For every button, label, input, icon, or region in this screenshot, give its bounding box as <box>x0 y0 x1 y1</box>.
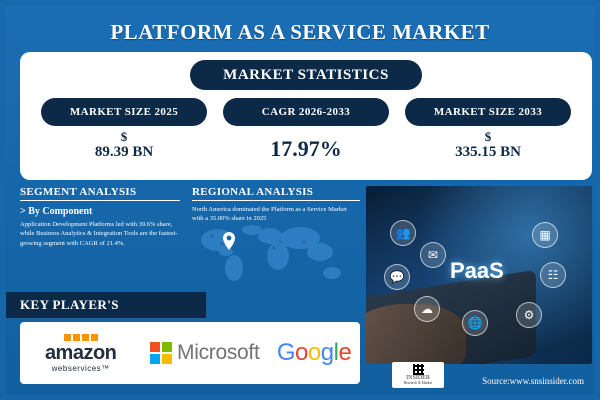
infographic-inner: PLATFORM AS A SERVICE MARKET MARKET STAT… <box>6 6 594 394</box>
segment-analysis-section: SEGMENT ANALYSIS > By Component Applicat… <box>20 186 180 248</box>
node-gear-icon: ⚙ <box>516 302 542 328</box>
segment-analysis-subtitle: > By Component <box>20 206 180 217</box>
stats-label-row: MARKET SIZE 2025 CAGR 2026-2033 MARKET S… <box>20 98 592 126</box>
stat-value-cagr: 17.97% <box>223 130 389 168</box>
logo-amazon-web-services: amazon webservices™ <box>29 334 133 373</box>
stats-value-row: $ 89.39 BN 17.97% $ 335.15 BN <box>20 130 592 168</box>
logo-microsoft: Microsoft <box>150 341 259 365</box>
node-message-icon: 💬 <box>384 264 410 290</box>
logo-google: Google <box>277 339 351 367</box>
aws-wordmark: amazon <box>29 343 133 363</box>
stat-number-2025: 89.39 BN <box>41 144 207 160</box>
regional-analysis-title: REGIONAL ANALYSIS <box>192 186 360 201</box>
market-statistics-panel: MARKET STATISTICS MARKET SIZE 2025 CAGR … <box>20 52 592 180</box>
stat-number-2033: 335.15 BN <box>405 144 571 160</box>
node-cloud-icon: ☁ <box>414 296 440 322</box>
world-map-svg <box>192 218 360 290</box>
google-letter-1: G <box>277 339 295 366</box>
segment-analysis-title: SEGMENT ANALYSIS <box>20 186 180 201</box>
google-letter-2: o <box>295 339 308 366</box>
page-title: PLATFORM AS A SERVICE MARKET <box>6 20 594 45</box>
currency-symbol-2033: $ <box>405 130 571 144</box>
qr-code-icon <box>413 364 424 375</box>
key-players-title: KEY PLAYER'S <box>6 292 206 318</box>
stat-value-market-size-2025: $ 89.39 BN <box>41 130 207 168</box>
node-grid-icon: ☷ <box>540 262 566 288</box>
stat-label-cagr: CAGR 2026-2033 <box>223 98 389 126</box>
source-text: Source:www.snsinsider.com <box>482 376 584 386</box>
badge-tagline: Research & Market <box>404 382 432 386</box>
google-letter-3: o <box>308 339 321 366</box>
node-users-icon: 👥 <box>390 220 416 246</box>
google-letter-6: e <box>338 339 351 366</box>
node-globe-icon: 🌐 <box>462 310 488 336</box>
aws-subtext: webservices™ <box>29 364 133 373</box>
microsoft-wordmark: Microsoft <box>177 341 259 365</box>
key-players-panel: amazon webservices™ Microsoft Google <box>20 322 360 384</box>
paas-photo-graphic: 👥 💬 ✉ ☁ ▦ ☷ ⚙ 🌐 PaaS <box>366 186 592 364</box>
aws-boxes-icon <box>29 334 133 341</box>
stat-value-market-size-2033: $ 335.15 BN <box>405 130 571 168</box>
infographic-page: PLATFORM AS A SERVICE MARKET MARKET STAT… <box>0 0 600 400</box>
stat-label-market-size-2033: MARKET SIZE 2033 <box>405 98 571 126</box>
market-statistics-header: MARKET STATISTICS <box>190 60 422 90</box>
stat-label-market-size-2025: MARKET SIZE 2025 <box>41 98 207 126</box>
map-location-pin-icon <box>222 232 236 250</box>
node-server-icon: ▦ <box>532 222 558 248</box>
google-letter-4: g <box>321 339 334 366</box>
world-map-graphic <box>192 218 360 290</box>
node-chat-icon: ✉ <box>420 242 446 268</box>
currency-symbol-2025: $ <box>41 130 207 144</box>
paas-label: PaaS <box>450 258 504 284</box>
microsoft-squares-icon <box>150 342 172 364</box>
segment-analysis-body: Application Development Platforms led wi… <box>20 220 180 248</box>
sns-insider-badge: INSIDER Research & Market <box>392 362 444 388</box>
